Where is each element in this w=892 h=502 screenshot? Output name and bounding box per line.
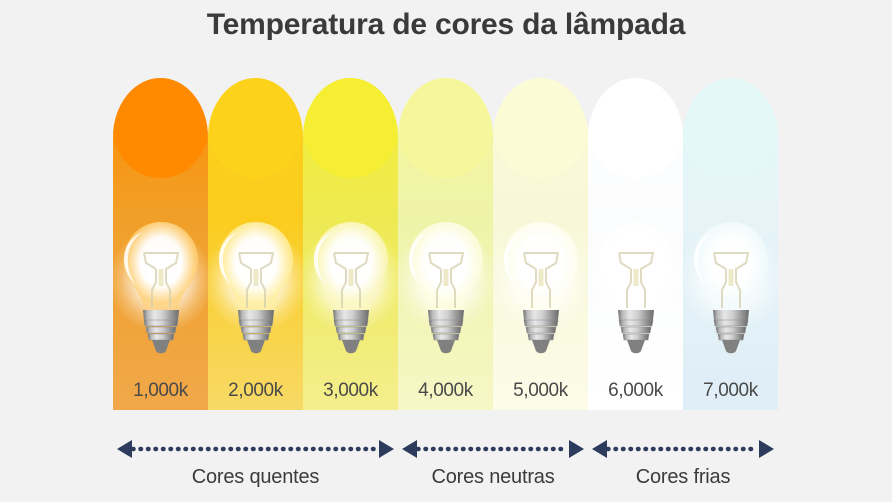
light-bulb-icon-4000: [403, 220, 489, 360]
column-top-circle-5000: [493, 78, 588, 178]
bulb-glass: [599, 222, 673, 310]
bulb-glass: [314, 222, 388, 310]
arrow-head-left: [592, 440, 607, 458]
temperature-column-1000[interactable]: 1,000k: [113, 78, 208, 410]
bulb-glass: [124, 222, 198, 310]
column-top-circle-1000: [113, 78, 208, 178]
light-bulb-icon-3000: [308, 220, 394, 360]
bulb-base-collar: [428, 310, 464, 320]
legend-label-2: Cores frias: [592, 466, 774, 489]
legend-label-0: Cores quentes: [117, 466, 394, 489]
bulb-base-thread: [433, 334, 459, 340]
temperature-column-7000[interactable]: 7,000k: [683, 78, 778, 410]
arrow-head-right: [379, 440, 394, 458]
bulb-base-thread: [144, 320, 178, 326]
arrow-head-right: [759, 440, 774, 458]
bulb-base-tip: [627, 340, 645, 353]
bulb-base-thread: [621, 327, 651, 333]
bulb-base-thread: [334, 320, 368, 326]
column-label-2000: 2,000k: [208, 380, 303, 402]
bulb-glass: [694, 222, 768, 310]
color-temperature-chart: 1,000k2,000k3,000k4,000k5,000k6,000k7,00…: [113, 78, 778, 410]
bulb-base-collar: [713, 310, 749, 320]
bulb-base-thread: [338, 334, 364, 340]
double-arrow-icon: [117, 438, 394, 460]
temperature-column-2000[interactable]: 2,000k: [208, 78, 303, 410]
legend-group-0: Cores quentes: [117, 438, 394, 502]
bulb-base-collar: [238, 310, 274, 320]
column-label-7000: 7,000k: [683, 380, 778, 402]
light-bulb-icon-5000: [498, 220, 584, 360]
column-top-circle-7000: [683, 78, 778, 178]
temperature-column-6000[interactable]: 6,000k: [588, 78, 683, 410]
column-top-circle-6000: [588, 78, 683, 178]
legend-label-1: Cores neutras: [402, 466, 584, 489]
bulb-base-thread: [716, 327, 746, 333]
column-top-circle-2000: [208, 78, 303, 178]
bulb-base-thread: [148, 334, 174, 340]
bulb-base-collar: [618, 310, 654, 320]
bulb-base-thread: [146, 327, 176, 333]
light-bulb-icon-7000: [688, 220, 774, 360]
bulb-base-thread: [526, 327, 556, 333]
bulb-base-thread: [718, 334, 744, 340]
bulb-base-tip: [247, 340, 265, 353]
bulb-base-collar: [333, 310, 369, 320]
bulb-glass: [219, 222, 293, 310]
bulb-base-thread: [714, 320, 748, 326]
column-top-circle-3000: [303, 78, 398, 178]
bulb-base-thread: [431, 327, 461, 333]
bulb-base-tip: [437, 340, 455, 353]
bulb-base-tip: [342, 340, 360, 353]
bulb-base-collar: [523, 310, 559, 320]
bulb-glass: [409, 222, 483, 310]
temperature-column-4000[interactable]: 4,000k: [398, 78, 493, 410]
chart-legend: Cores quentesCores neutrasCores frias: [113, 438, 778, 502]
column-label-4000: 4,000k: [398, 380, 493, 402]
bulb-base-thread: [619, 320, 653, 326]
temperature-column-3000[interactable]: 3,000k: [303, 78, 398, 410]
column-top-circle-4000: [398, 78, 493, 178]
double-arrow-icon: [592, 438, 774, 460]
bulb-base-tip: [532, 340, 550, 353]
temperature-column-5000[interactable]: 5,000k: [493, 78, 588, 410]
bulb-base-tip: [152, 340, 170, 353]
bulb-base-thread: [336, 327, 366, 333]
bulb-glass: [504, 222, 578, 310]
bulb-base-tip: [722, 340, 740, 353]
legend-group-1: Cores neutras: [402, 438, 584, 502]
bulb-base-thread: [243, 334, 269, 340]
bulb-base-thread: [524, 320, 558, 326]
column-label-1000: 1,000k: [113, 380, 208, 402]
arrow-head-right: [569, 440, 584, 458]
bulb-base-thread: [241, 327, 271, 333]
bulb-base-thread: [429, 320, 463, 326]
column-label-5000: 5,000k: [493, 380, 588, 402]
column-label-3000: 3,000k: [303, 380, 398, 402]
column-label-6000: 6,000k: [588, 380, 683, 402]
bulb-base-thread: [623, 334, 649, 340]
bulb-base-thread: [239, 320, 273, 326]
light-bulb-icon-6000: [593, 220, 679, 360]
legend-group-2: Cores frias: [592, 438, 774, 502]
arrow-head-left: [117, 440, 132, 458]
double-arrow-icon: [402, 438, 584, 460]
page-title: Temperatura de cores da lâmpada: [0, 8, 892, 42]
light-bulb-icon-1000: [118, 220, 204, 360]
light-bulb-icon-2000: [213, 220, 299, 360]
bulb-base-collar: [143, 310, 179, 320]
bulb-base-thread: [528, 334, 554, 340]
arrow-head-left: [402, 440, 417, 458]
